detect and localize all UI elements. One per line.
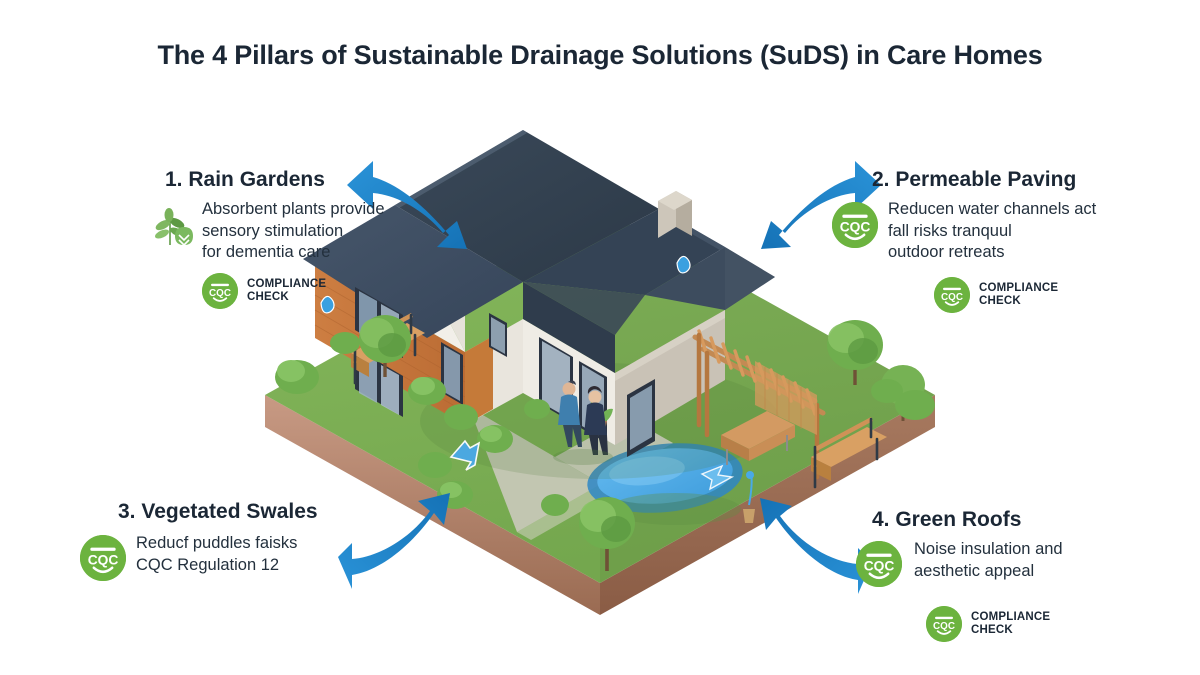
- svg-text:CQC: CQC: [209, 288, 231, 299]
- cqc-badge-icon: CQC: [202, 273, 238, 309]
- compliance-check-label: COMPLIANCE CHECK: [979, 282, 1058, 309]
- infographic-canvas: The 4 Pillars of Sustainable Drainage So…: [0, 0, 1200, 675]
- cqc-badge-icon: CQC: [80, 535, 132, 586]
- leaf-plant-icon: [150, 203, 198, 249]
- pillar-heading: 3. Vegetated Swales: [118, 500, 412, 523]
- pillar-body: Reducen water channels act fall risks tr…: [888, 199, 1096, 263]
- pillar-body: Absorbent plants provide sensory stimula…: [202, 199, 385, 263]
- pillar-vegetated-swales: 3. Vegetated Swales CQC Reducf puddles f…: [112, 500, 412, 586]
- compliance-check-badge: CQC COMPLIANCE CHECK: [934, 277, 1192, 313]
- page-title: The 4 Pillars of Sustainable Drainage So…: [0, 40, 1200, 71]
- cqc-badge-icon: CQC: [934, 277, 970, 313]
- pillar-heading: 1. Rain Gardens: [165, 168, 420, 191]
- compliance-check-badge: CQC COMPLIANCE CHECK: [202, 273, 420, 309]
- svg-text:CQC: CQC: [864, 558, 895, 573]
- pillar-green-roofs: 4. Green Roofs CQC Noise insulation and …: [868, 508, 1188, 642]
- compliance-check-label: COMPLIANCE CHECK: [247, 278, 326, 305]
- pillar-body: Reducf puddles faisks CQC Regulation 12: [136, 533, 297, 576]
- svg-text:CQC: CQC: [933, 621, 955, 632]
- cqc-badge-icon: CQC: [832, 202, 884, 253]
- pillar-permeable-paving: 2. Permeable Paving CQC Reducen water ch…: [872, 168, 1192, 313]
- pillar-heading: 2. Permeable Paving: [872, 168, 1192, 191]
- svg-text:CQC: CQC: [840, 219, 871, 234]
- pillar-rain-gardens: 1. Rain Gardens: [150, 168, 420, 309]
- compliance-check-badge: CQC COMPLIANCE CHECK: [926, 606, 1188, 642]
- pillar-body: Noise insulation and aesthetic appeal: [914, 539, 1063, 582]
- cqc-badge-icon: CQC: [856, 541, 908, 592]
- compliance-check-label: COMPLIANCE CHECK: [971, 611, 1050, 638]
- svg-text:CQC: CQC: [941, 292, 963, 303]
- svg-text:CQC: CQC: [88, 552, 119, 567]
- pillar-heading: 4. Green Roofs: [872, 508, 1188, 531]
- cqc-badge-icon: CQC: [926, 606, 962, 642]
